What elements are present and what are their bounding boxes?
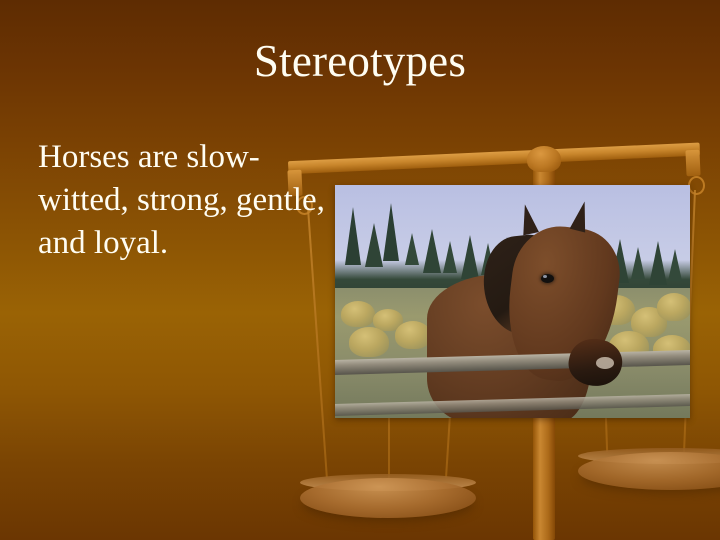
horse-photo <box>335 185 690 418</box>
scale-hook-right <box>688 176 705 195</box>
scale-beam-right-cap <box>685 150 700 177</box>
scale-fulcrum <box>527 146 561 172</box>
presentation-slide: Stereotypes Horses are slow-witted, stro… <box>0 0 720 540</box>
photo-tree <box>345 207 361 265</box>
slide-body-text: Horses are slow-witted, strong, gentle, … <box>38 136 338 265</box>
photo-tree <box>631 247 645 279</box>
photo-tree <box>365 223 383 267</box>
photo-shrub <box>657 293 690 321</box>
photo-tree <box>668 249 682 281</box>
photo-tree <box>461 235 479 279</box>
photo-shrub <box>341 301 375 327</box>
photo-tree <box>443 241 457 273</box>
photo-shrub <box>395 321 431 349</box>
photo-horse-nostril <box>596 357 614 369</box>
photo-shrub <box>349 327 389 357</box>
photo-horse-eye <box>541 274 554 283</box>
scale-beam <box>288 143 700 175</box>
photo-tree <box>649 241 667 285</box>
photo-tree <box>405 233 419 265</box>
photo-tree <box>423 229 441 273</box>
slide-title: Stereotypes <box>0 36 720 88</box>
scale-pan-left <box>300 478 476 518</box>
photo-tree <box>383 203 399 261</box>
scale-pan-right <box>578 452 720 490</box>
